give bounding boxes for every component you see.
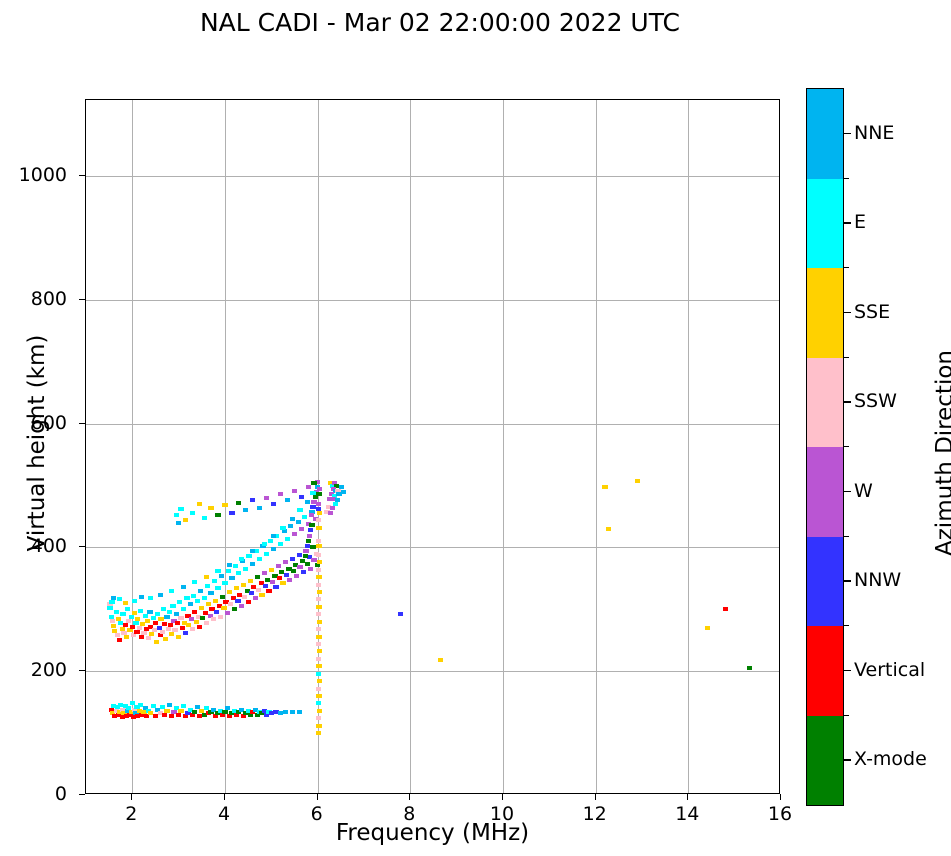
echo-marker: [285, 537, 290, 541]
colorbar-boundary-tick: [844, 446, 849, 447]
echo-marker: [241, 583, 246, 587]
echo-marker: [317, 590, 322, 594]
echo-marker: [317, 487, 322, 491]
echo-marker: [123, 601, 128, 605]
echo-marker: [262, 542, 267, 546]
figure-title: NAL CADI - Mar 02 22:00:00 2022 UTC: [0, 8, 880, 37]
echo-marker: [208, 506, 213, 510]
echo-marker: [264, 552, 269, 556]
echo-marker: [176, 713, 181, 717]
echo-marker: [170, 604, 175, 608]
echo-marker: [176, 635, 181, 639]
echo-marker: [123, 623, 128, 627]
echo-marker: [317, 679, 322, 683]
x-axis-tick: [409, 794, 410, 800]
colorbar-boundary-tick: [844, 536, 849, 537]
echo-marker: [316, 539, 321, 543]
echo-marker: [310, 491, 315, 495]
echo-marker: [262, 571, 267, 575]
echo-marker: [301, 570, 306, 574]
echo-marker: [116, 617, 121, 621]
colorbar-label-sse: SSE: [854, 301, 890, 323]
echo-marker: [180, 626, 185, 630]
echo-marker: [219, 574, 224, 578]
echo-marker: [316, 716, 321, 720]
echo-marker: [317, 620, 322, 624]
echo-marker: [206, 602, 211, 606]
echo-marker: [172, 628, 177, 632]
echo-marker: [243, 567, 248, 571]
x-axis-label: Frequency (MHz): [85, 820, 780, 846]
echo-marker: [307, 534, 312, 538]
echo-marker: [299, 527, 304, 531]
echo-marker: [266, 589, 271, 593]
echo-marker: [304, 549, 309, 553]
echo-marker: [316, 724, 321, 728]
echo-marker: [278, 492, 283, 496]
echo-marker: [316, 642, 321, 646]
y-axis-tick: [79, 546, 85, 547]
colorbar-segment-ssw[interactable]: [807, 358, 843, 448]
echo-marker: [248, 579, 253, 583]
echo-marker: [308, 528, 313, 532]
echo-marker: [235, 599, 240, 603]
echo-marker: [316, 657, 321, 661]
echo-marker: [264, 496, 269, 500]
echo-marker: [310, 545, 315, 549]
echo-marker: [202, 596, 207, 600]
echo-marker: [109, 600, 114, 604]
echo-marker: [271, 534, 276, 538]
echo-marker: [316, 518, 321, 522]
colorbar-segment-e[interactable]: [807, 179, 843, 269]
echo-marker: [191, 594, 196, 598]
y-axis-tick: [79, 794, 85, 795]
echo-marker: [139, 635, 144, 639]
echo-marker: [280, 581, 285, 585]
echo-marker: [115, 633, 120, 637]
echo-marker: [305, 544, 310, 548]
echo-marker: [134, 630, 139, 634]
echo-marker: [111, 624, 116, 628]
echo-marker: [705, 626, 710, 630]
colorbar-segment-nne[interactable]: [807, 89, 843, 179]
y-axis-tick-label: 1000: [7, 164, 67, 186]
colorbar-label: Azimuth Direction: [932, 298, 951, 608]
echo-marker: [164, 615, 169, 619]
echo-marker: [269, 568, 274, 572]
colorbar-tick: [844, 759, 851, 760]
echo-marker: [316, 575, 321, 579]
echo-marker: [158, 593, 163, 597]
echo-marker: [316, 672, 321, 676]
echo-marker: [168, 623, 173, 627]
x-axis-tick: [317, 794, 318, 800]
echo-marker: [183, 518, 188, 522]
echo-marker: [228, 602, 233, 606]
echo-marker: [250, 549, 255, 553]
echo-marker: [236, 501, 241, 505]
y-axis-tick: [79, 175, 85, 176]
echo-marker: [747, 666, 752, 670]
echo-marker: [278, 542, 283, 546]
echo-marker: [309, 513, 314, 517]
echo-marker: [212, 579, 217, 583]
echo-marker: [167, 703, 172, 707]
colorbar-label-vertical: Vertical: [854, 659, 925, 681]
echo-marker: [316, 553, 321, 557]
echo-marker: [291, 569, 296, 573]
echo-marker: [306, 539, 311, 543]
echo-marker: [204, 621, 209, 625]
echo-marker: [305, 562, 310, 566]
echo-marker: [316, 583, 321, 587]
colorbar-label-x-mode: X-mode: [854, 748, 927, 770]
echo-marker: [117, 638, 122, 642]
echo-marker: [145, 619, 150, 623]
echo-marker: [175, 621, 180, 625]
echo-marker: [133, 621, 138, 625]
x-axis-tick: [780, 794, 781, 800]
colorbar-label-e: E: [854, 211, 866, 233]
echo-marker: [178, 616, 183, 620]
colorbar-tick: [844, 580, 851, 581]
colorbar-tick: [844, 491, 851, 492]
y-axis-tick-label: 200: [7, 659, 67, 681]
echo-marker: [181, 607, 186, 611]
echo-marker: [246, 600, 251, 604]
echo-marker: [169, 632, 174, 636]
echo-marker: [317, 511, 322, 515]
echo-marker: [297, 710, 302, 714]
echo-marker: [204, 575, 209, 579]
colorbar-tick: [844, 133, 851, 134]
echo-marker: [221, 606, 226, 610]
echo-marker: [316, 664, 321, 668]
echo-marker: [229, 511, 234, 515]
echo-marker: [635, 479, 640, 483]
echo-marker: [131, 633, 136, 637]
echo-marker: [290, 710, 295, 714]
echo-marker: [723, 607, 728, 611]
colorbar-label-ssw: SSW: [854, 390, 897, 412]
colorbar-segment-sse[interactable]: [807, 268, 843, 358]
colorbar-segment-x-mode[interactable]: [807, 716, 843, 806]
colorbar-tick: [844, 312, 851, 313]
echo-marker: [277, 576, 282, 580]
echo-marker: [120, 612, 125, 616]
echo-marker: [190, 511, 195, 515]
echo-marker: [163, 637, 168, 641]
echo-marker: [303, 554, 308, 558]
echo-marker: [192, 580, 197, 584]
echo-marker: [317, 560, 322, 564]
echo-marker: [158, 617, 163, 621]
echo-marker: [127, 628, 132, 632]
echo-marker: [268, 539, 273, 543]
echo-marker: [169, 589, 174, 593]
echo-marker: [257, 506, 262, 510]
echo-marker: [316, 635, 321, 639]
y-axis-tick: [79, 423, 85, 424]
echo-marker: [330, 506, 335, 510]
echo-marker: [215, 569, 220, 573]
echo-marker: [270, 580, 275, 584]
echo-marker: [125, 607, 130, 611]
echo-marker: [181, 704, 186, 708]
colorbar[interactable]: [806, 88, 844, 806]
echo-marker: [132, 599, 137, 603]
colorbar-segment-vertical[interactable]: [807, 626, 843, 716]
echo-marker: [316, 612, 321, 616]
echo-marker: [188, 602, 193, 606]
echo-marker: [283, 560, 288, 564]
echo-marker: [302, 515, 307, 519]
echo-marker: [169, 714, 174, 718]
colorbar-segment-nnw[interactable]: [807, 537, 843, 627]
colorbar-tick: [844, 401, 851, 402]
echo-marker: [225, 706, 230, 710]
echo-marker: [181, 585, 186, 589]
echo-marker: [158, 633, 163, 637]
echo-marker: [316, 502, 321, 506]
echo-marker: [284, 573, 289, 577]
echo-marker: [316, 701, 321, 705]
echo-marker: [214, 610, 219, 614]
echo-marker: [177, 600, 182, 604]
x-axis-tick: [131, 794, 132, 800]
echo-marker: [225, 611, 230, 615]
colorbar-tick: [844, 670, 851, 671]
echo-marker: [199, 606, 204, 610]
echo-marker: [239, 604, 244, 608]
echo-marker: [110, 619, 115, 623]
echo-marker: [226, 569, 231, 573]
echo-marker: [162, 622, 167, 626]
echo-marker: [141, 631, 146, 635]
y-axis-tick-label: 0: [7, 783, 67, 805]
echo-marker: [215, 586, 220, 590]
echo-marker: [111, 596, 116, 600]
echo-marker: [114, 610, 119, 614]
echo-marker: [124, 635, 129, 639]
colorbar-label-nne: NNE: [854, 122, 894, 144]
echo-marker: [195, 599, 200, 603]
echo-marker: [233, 564, 238, 568]
echo-marker: [602, 485, 607, 489]
y-axis-tick: [79, 299, 85, 300]
echo-marker: [250, 498, 255, 502]
echo-marker: [239, 557, 244, 561]
echo-marker: [317, 709, 322, 713]
echo-marker: [308, 567, 313, 571]
echo-marker: [183, 631, 188, 635]
echo-marker: [280, 526, 285, 530]
echo-marker: [288, 524, 293, 528]
echo-marker: [305, 500, 310, 504]
echo-marker: [249, 591, 254, 595]
echo-marker: [208, 591, 213, 595]
colorbar-segment-w[interactable]: [807, 447, 843, 537]
echo-marker: [311, 558, 316, 562]
echo-marker: [130, 625, 135, 629]
echo-marker: [282, 529, 287, 533]
echo-marker: [255, 575, 260, 579]
echo-marker: [220, 595, 225, 599]
echo-marker: [149, 632, 154, 636]
echo-marker: [242, 595, 247, 599]
echo-marker: [296, 520, 301, 524]
echo-marker: [215, 513, 220, 517]
echo-marker: [306, 485, 311, 489]
echo-marker: [317, 649, 322, 653]
echo-marker: [398, 612, 403, 616]
echo-marker: [154, 640, 159, 644]
echo-marker: [197, 502, 202, 506]
echo-marker: [151, 616, 156, 620]
colorbar-label-w: W: [854, 480, 873, 502]
echo-marker: [162, 713, 167, 717]
echo-marker: [167, 610, 172, 614]
echo-marker: [198, 589, 203, 593]
echo-marker: [218, 615, 223, 619]
echo-marker: [132, 611, 137, 615]
echo-marker: [273, 585, 278, 589]
echo-marker: [243, 508, 248, 512]
echo-marker: [211, 617, 216, 621]
echo-marker: [205, 584, 210, 588]
plot-area: [85, 99, 780, 794]
echo-marker: [164, 709, 169, 713]
echo-marker: [297, 553, 302, 557]
echo-marker: [143, 614, 148, 618]
echo-marker: [135, 617, 140, 621]
scatter-data-layer: [86, 100, 779, 793]
echo-marker: [232, 607, 237, 611]
echo-marker: [253, 596, 258, 600]
colorbar-boundary-tick: [844, 715, 849, 716]
colorbar-boundary-tick: [844, 625, 849, 626]
echo-marker: [328, 511, 333, 515]
echo-marker: [176, 521, 181, 525]
echo-marker: [316, 627, 321, 631]
echo-marker: [256, 588, 261, 592]
echo-marker: [316, 492, 321, 496]
echo-marker: [250, 562, 255, 566]
echo-marker: [147, 610, 152, 614]
echo-marker: [316, 731, 321, 735]
echo-marker: [202, 516, 207, 520]
echo-marker: [285, 498, 290, 502]
echo-marker: [166, 627, 171, 631]
echo-marker: [129, 615, 134, 619]
echo-marker: [316, 526, 321, 530]
echo-marker: [316, 687, 321, 691]
colorbar-label-nnw: NNW: [854, 569, 901, 591]
echo-marker: [222, 581, 227, 585]
echo-marker: [316, 694, 321, 698]
echo-marker: [190, 627, 195, 631]
echo-marker: [227, 590, 232, 594]
echo-marker: [316, 605, 321, 609]
echo-marker: [137, 626, 142, 630]
echo-marker: [263, 584, 268, 588]
y-axis-label: Virtual height (km): [24, 293, 50, 593]
echo-marker: [200, 616, 205, 620]
echo-marker: [148, 596, 153, 600]
echo-marker: [160, 630, 165, 634]
echo-marker: [194, 620, 199, 624]
colorbar-boundary-tick: [844, 267, 849, 268]
echo-marker: [297, 565, 302, 569]
x-axis-tick: [595, 794, 596, 800]
x-axis-tick: [687, 794, 688, 800]
echo-marker: [146, 636, 151, 640]
echo-marker: [299, 495, 304, 499]
echo-marker: [213, 599, 218, 603]
echo-marker: [197, 625, 202, 629]
echo-marker: [178, 507, 183, 511]
echo-marker: [257, 557, 262, 561]
echo-marker: [283, 710, 288, 714]
echo-marker: [138, 609, 143, 613]
echo-marker: [297, 508, 302, 512]
echo-marker: [229, 576, 234, 580]
echo-marker: [287, 578, 292, 582]
echo-marker: [316, 544, 321, 548]
echo-marker: [606, 527, 611, 531]
echo-marker: [290, 557, 295, 561]
echo-marker: [234, 586, 239, 590]
echo-marker: [153, 621, 158, 625]
echo-marker: [117, 597, 122, 601]
colorbar-boundary-tick: [844, 178, 849, 179]
echo-marker: [271, 502, 276, 506]
echo-marker: [341, 490, 346, 494]
echo-marker: [339, 485, 344, 489]
echo-marker: [316, 597, 321, 601]
echo-marker: [222, 503, 227, 507]
echo-marker: [161, 607, 166, 611]
echo-marker: [276, 564, 281, 568]
echo-marker: [192, 610, 197, 614]
echo-marker: [107, 606, 112, 610]
echo-marker: [292, 532, 297, 536]
echo-marker: [227, 563, 232, 567]
echo-marker: [311, 481, 316, 485]
y-axis-tick: [79, 670, 85, 671]
echo-marker: [309, 523, 314, 527]
echo-marker: [438, 658, 443, 662]
echo-marker: [184, 596, 189, 600]
echo-marker: [126, 619, 131, 623]
echo-marker: [174, 513, 179, 517]
echo-marker: [155, 612, 160, 616]
echo-marker: [290, 517, 295, 521]
x-axis-tick: [224, 794, 225, 800]
echo-marker: [259, 593, 264, 597]
x-axis-tick: [502, 794, 503, 800]
echo-marker: [178, 709, 183, 713]
echo-marker: [271, 547, 276, 551]
colorbar-boundary-tick: [844, 357, 849, 358]
ionogram-figure: NAL CADI - Mar 02 22:00:00 2022 UTC 2468…: [0, 0, 951, 856]
echo-marker: [292, 489, 297, 493]
echo-marker: [316, 568, 321, 572]
echo-marker: [294, 574, 299, 578]
echo-marker: [139, 595, 144, 599]
echo-marker: [246, 554, 251, 558]
